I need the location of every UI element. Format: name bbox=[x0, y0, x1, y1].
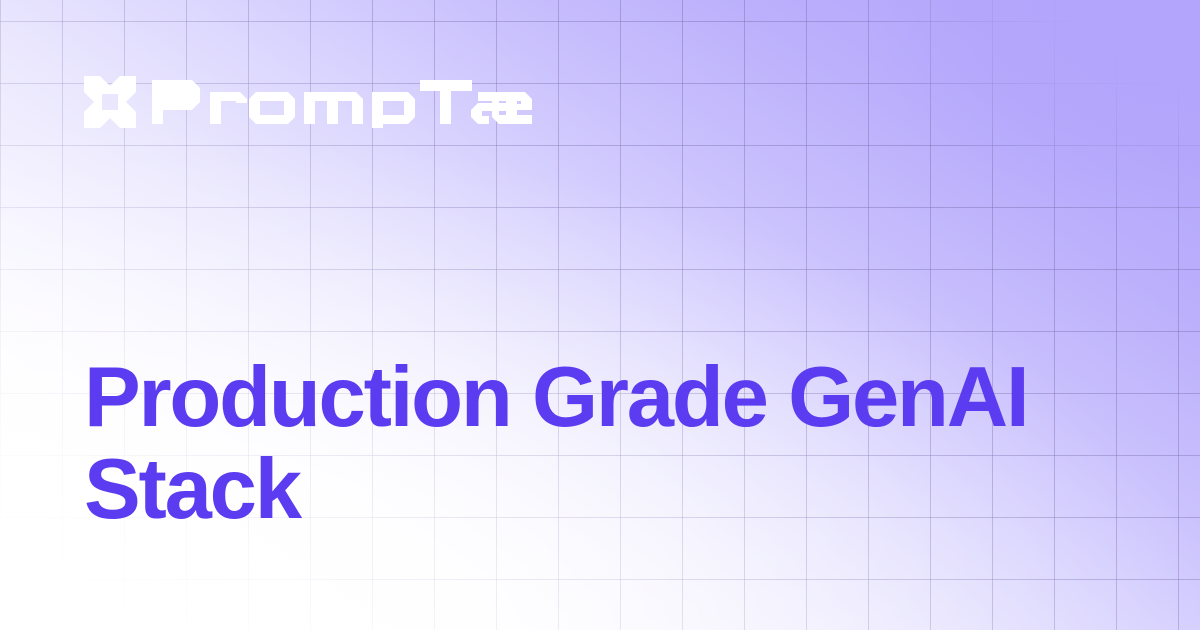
card-content: Production Grade GenAI Stack bbox=[0, 0, 1200, 630]
x-star-logo-icon bbox=[84, 76, 136, 128]
og-card: Production Grade GenAI Stack bbox=[0, 0, 1200, 630]
brand-wordmark bbox=[152, 76, 544, 128]
page-title: Production Grade GenAI Stack bbox=[84, 352, 1119, 536]
headline-line-2: Stack bbox=[84, 444, 1119, 536]
headline-line-1: Production Grade GenAI bbox=[84, 352, 1119, 444]
brand-lockup[interactable] bbox=[84, 76, 544, 128]
